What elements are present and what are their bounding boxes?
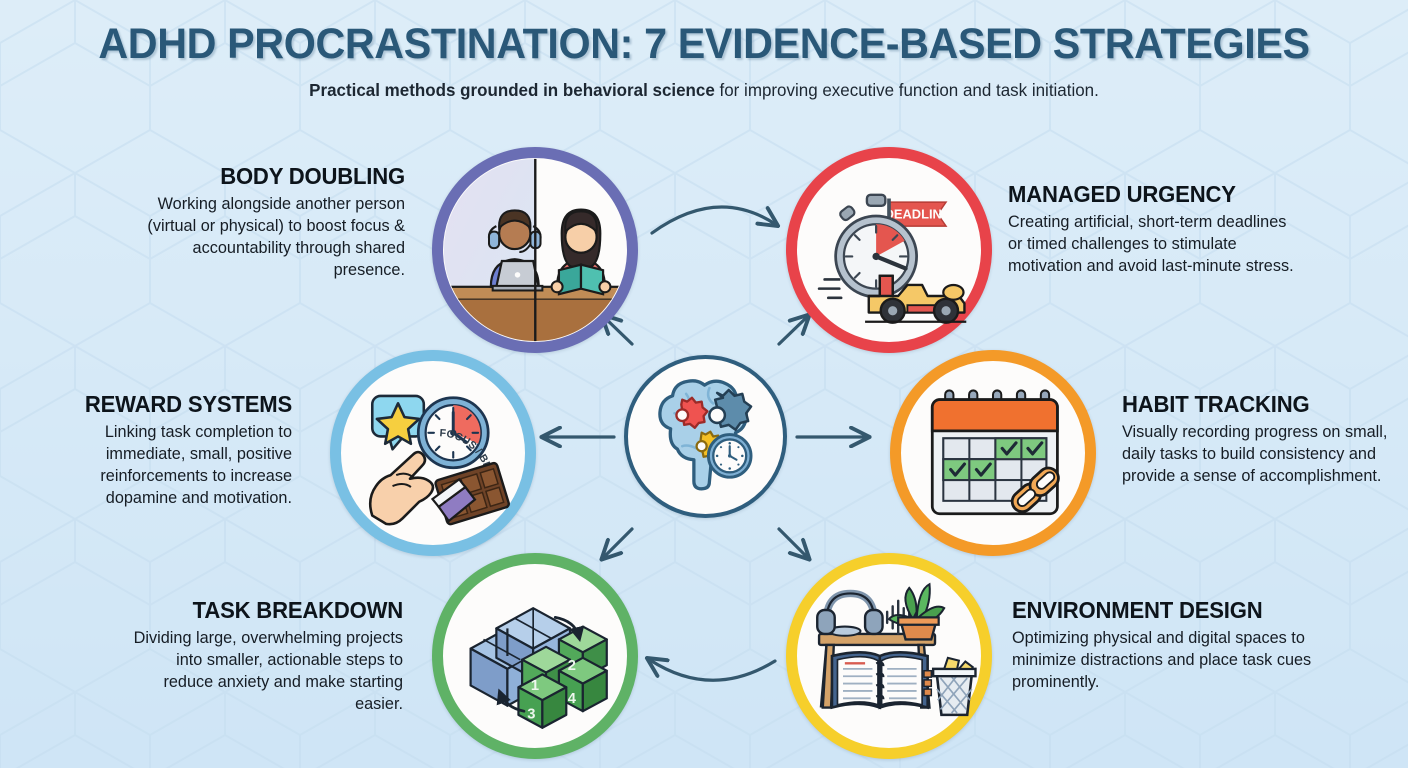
strategy-body-reward-systems: Linking task completion to immediate, sm… (27, 421, 292, 509)
block-number-2: 2 (568, 658, 576, 674)
infographic-header: ADHD PROCRASTINATION: 7 EVIDENCE-BASED S… (0, 0, 1408, 101)
strategy-title-reward-systems: REWARD SYSTEMS (33, 391, 292, 418)
arrow-body-to-urgency (652, 207, 775, 233)
text-block-environment-design: ENVIRONMENT DESIGN Optimizing physical a… (1012, 597, 1324, 693)
page-title: ADHD PROCRASTINATION: 7 EVIDENCE-BASED S… (28, 20, 1380, 69)
text-block-reward-systems: REWARD SYSTEMS Linking task completion t… (22, 391, 292, 509)
strategy-body-managed-urgency: Creating artificial, short-term deadline… (1008, 211, 1302, 277)
subtitle-emphasis: Practical methods grounded in behavioral… (309, 80, 715, 100)
star-clock-hand-chocolate-icon: FOCUS / BREAK (341, 361, 525, 545)
page-subtitle: Practical methods grounded in behavioral… (21, 80, 1387, 101)
strategy-title-body-doubling: BODY DOUBLING (131, 163, 405, 190)
text-block-managed-urgency: MANAGED URGENCY Creating artificial, sho… (1008, 181, 1308, 277)
text-block-body-doubling: BODY DOUBLING Working alongside another … (120, 163, 405, 281)
arrow-hub-downleft (604, 529, 632, 557)
strategy-title-task-breakdown: TASK BREAKDOWN (131, 597, 403, 624)
brain-gears-clock-icon (628, 359, 783, 514)
node-task-breakdown[interactable]: 1 2 3 4 (432, 553, 638, 759)
strategy-title-managed-urgency: MANAGED URGENCY (1008, 181, 1296, 208)
arrow-hub-downright (779, 529, 807, 557)
calendar-checkmarks-chain-icon (901, 361, 1085, 545)
two-people-working-icon (443, 158, 627, 342)
node-reward-systems[interactable]: FOCUS / BREAK (330, 350, 536, 556)
strategy-body-task-breakdown: Dividing large, overwhelming projects in… (126, 627, 403, 715)
subtitle-remainder: for improving executive function and tas… (715, 80, 1099, 100)
node-environment-design[interactable] (786, 553, 992, 759)
node-managed-urgency[interactable]: DEADLINE (786, 147, 992, 353)
strategy-title-habit-tracking: HABIT TRACKING (1122, 391, 1383, 418)
stopwatch-racecar-deadline-icon: DEADLINE (797, 158, 981, 342)
center-node-executive-function[interactable] (624, 355, 787, 518)
strategy-body-environment-design: Optimizing physical and digital spaces t… (1012, 627, 1318, 693)
arrow-environment-to-task (650, 660, 775, 680)
desk-headphones-plant-notebook-bin-icon (797, 564, 981, 748)
text-block-habit-tracking: HABIT TRACKING Visually recording progre… (1122, 391, 1394, 487)
block-number-4: 4 (568, 691, 577, 707)
node-body-doubling[interactable] (432, 147, 638, 353)
strategy-body-body-doubling: Working alongside another person (virtua… (126, 193, 405, 281)
block-number-1: 1 (531, 678, 539, 694)
text-block-task-breakdown: TASK BREAKDOWN Dividing large, overwhelm… (120, 597, 403, 715)
strategy-body-habit-tracking: Visually recording progress on small, da… (1122, 421, 1389, 487)
block-number-3: 3 (527, 707, 535, 723)
strategy-title-environment-design: ENVIRONMENT DESIGN (1012, 597, 1312, 624)
node-habit-tracking[interactable] (890, 350, 1096, 556)
big-cube-into-numbered-blocks-icon: 1 2 3 4 (443, 564, 627, 748)
